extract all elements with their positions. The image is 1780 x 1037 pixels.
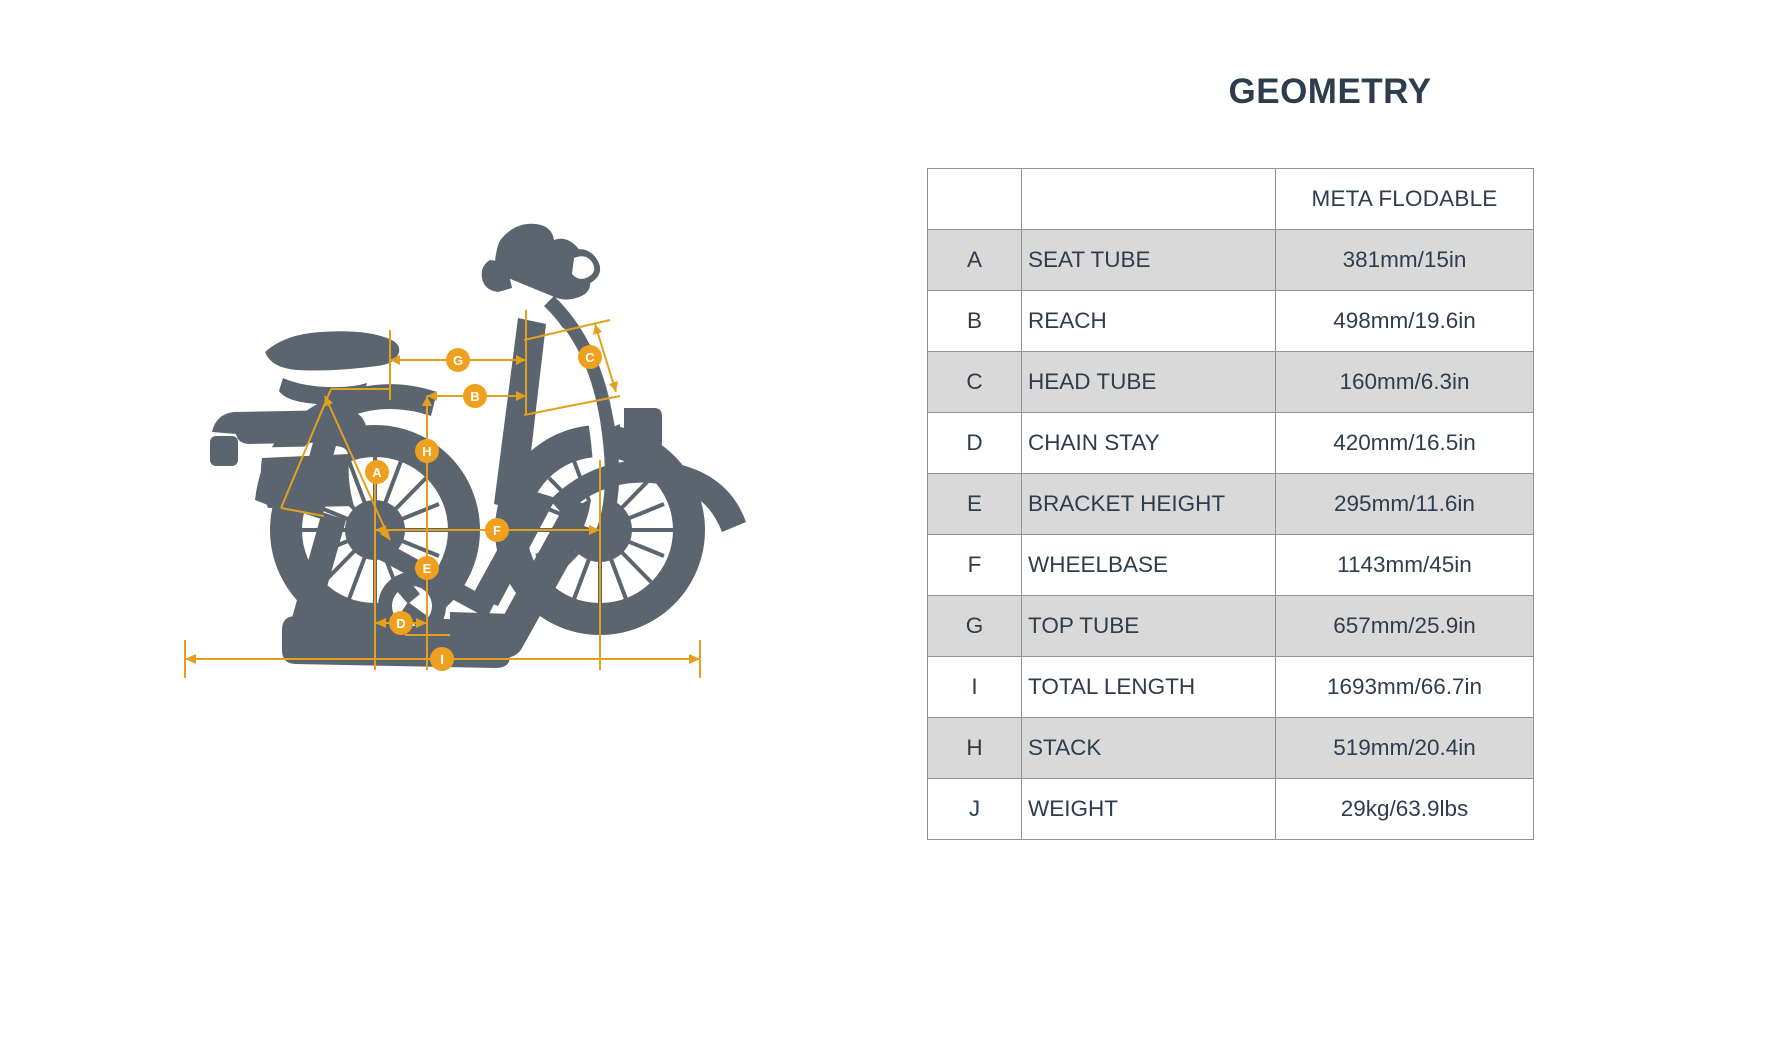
table-row: A SEAT TUBE 381mm/15in — [928, 230, 1534, 291]
marker-B[interactable]: B — [463, 384, 487, 408]
row-letter: G — [928, 596, 1022, 657]
marker-H[interactable]: H — [415, 439, 439, 463]
row-letter: E — [928, 474, 1022, 535]
table-row: D CHAIN STAY 420mm/16.5in — [928, 413, 1534, 474]
row-value: 657mm/25.9in — [1276, 596, 1534, 657]
row-letter: H — [928, 718, 1022, 779]
table-row: G TOP TUBE 657mm/25.9in — [928, 596, 1534, 657]
marker-A[interactable]: A — [365, 460, 389, 484]
geometry-panel: GEOMETRY META FLODABLE A SEAT TUBE 381mm… — [880, 0, 1780, 1037]
row-letter: I — [928, 657, 1022, 718]
table-row: C HEAD TUBE 160mm/6.3in — [928, 352, 1534, 413]
marker-F-label: F — [493, 523, 501, 538]
marker-I[interactable]: I — [430, 647, 454, 671]
marker-E-label: E — [423, 561, 432, 576]
row-letter: J — [928, 779, 1022, 840]
table-row: F WHEELBASE 1143mm/45in — [928, 535, 1534, 596]
marker-E[interactable]: E — [415, 556, 439, 580]
row-name: REACH — [1022, 291, 1276, 352]
row-value: 295mm/11.6in — [1276, 474, 1534, 535]
row-name: CHAIN STAY — [1022, 413, 1276, 474]
marker-A-label: A — [372, 465, 382, 480]
row-letter: F — [928, 535, 1022, 596]
row-name: STACK — [1022, 718, 1276, 779]
row-value: 420mm/16.5in — [1276, 413, 1534, 474]
page-root: G B C H A — [0, 0, 1780, 1037]
row-value: 519mm/20.4in — [1276, 718, 1534, 779]
bike-diagram-panel: G B C H A — [0, 0, 880, 1037]
header-model-cell: META FLODABLE — [1276, 169, 1534, 230]
row-name: WHEELBASE — [1022, 535, 1276, 596]
row-name: BRACKET HEIGHT — [1022, 474, 1276, 535]
row-value: 1143mm/45in — [1276, 535, 1534, 596]
row-letter: C — [928, 352, 1022, 413]
geometry-table: META FLODABLE A SEAT TUBE 381mm/15in B R… — [927, 168, 1534, 840]
row-letter: A — [928, 230, 1022, 291]
row-name: TOTAL LENGTH — [1022, 657, 1276, 718]
marker-C-label: C — [585, 350, 595, 365]
row-value: 160mm/6.3in — [1276, 352, 1534, 413]
row-name: HEAD TUBE — [1022, 352, 1276, 413]
marker-I-label: I — [440, 652, 444, 667]
row-value: 498mm/19.6in — [1276, 291, 1534, 352]
table-row: H STACK 519mm/20.4in — [928, 718, 1534, 779]
row-letter: D — [928, 413, 1022, 474]
marker-B-label: B — [470, 389, 479, 404]
marker-D[interactable]: D — [389, 611, 413, 635]
marker-D-label: D — [396, 616, 405, 631]
row-name: WEIGHT — [1022, 779, 1276, 840]
bike-geometry-illustration: G B C H A — [150, 200, 850, 760]
marker-F[interactable]: F — [485, 518, 509, 542]
header-letter-cell — [928, 169, 1022, 230]
table-row: J WEIGHT 29kg/63.9lbs — [928, 779, 1534, 840]
page-title: GEOMETRY — [880, 72, 1780, 112]
row-letter: B — [928, 291, 1022, 352]
marker-G[interactable]: G — [446, 348, 470, 372]
row-value: 29kg/63.9lbs — [1276, 779, 1534, 840]
row-name: TOP TUBE — [1022, 596, 1276, 657]
marker-H-label: H — [422, 444, 431, 459]
marker-G-label: G — [453, 353, 463, 368]
table-row: I TOTAL LENGTH 1693mm/66.7in — [928, 657, 1534, 718]
table-row: E BRACKET HEIGHT 295mm/11.6in — [928, 474, 1534, 535]
header-name-cell — [1022, 169, 1276, 230]
marker-C[interactable]: C — [578, 345, 602, 369]
row-value: 1693mm/66.7in — [1276, 657, 1534, 718]
row-name: SEAT TUBE — [1022, 230, 1276, 291]
table-header-row: META FLODABLE — [928, 169, 1534, 230]
row-value: 381mm/15in — [1276, 230, 1534, 291]
bike-silhouette — [210, 224, 746, 668]
table-row: B REACH 498mm/19.6in — [928, 291, 1534, 352]
